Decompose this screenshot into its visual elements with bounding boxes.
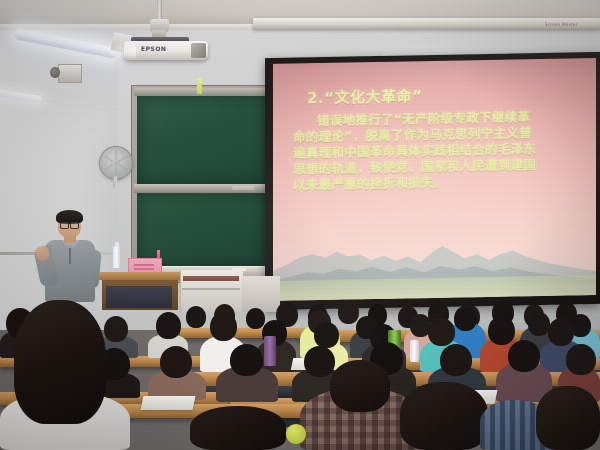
student-head: [314, 322, 339, 348]
student-head-foreground: [14, 300, 106, 424]
student-head: [338, 300, 359, 324]
student-head: [246, 308, 265, 329]
student-head: [566, 344, 596, 375]
student-head: [548, 318, 574, 346]
screen-brand-label: Screen Master: [545, 22, 578, 27]
notebook-paper: [141, 396, 196, 410]
water-bottle-purple: [264, 336, 276, 366]
student-head-foreground: [536, 386, 600, 450]
wall-speaker-icon: [58, 64, 82, 83]
student-head: [304, 346, 335, 377]
side-cabinet-seam: [182, 288, 240, 290]
student-head: [230, 344, 263, 376]
projector-light-beam: [104, 40, 136, 60]
student-head: [156, 312, 181, 339]
student-head: [210, 312, 237, 341]
student-head: [428, 318, 455, 346]
water-bottle: [410, 340, 419, 362]
podium-water-bottle: [113, 246, 120, 268]
chalkboard-top-rail: [134, 88, 274, 96]
student-head-foreground: [190, 406, 286, 450]
student-head: [440, 344, 472, 376]
projector-brand-label: EPSON: [141, 46, 166, 53]
side-cabinet-secondary: [242, 276, 280, 312]
student-head: [454, 306, 477, 331]
screen-vignette: [273, 58, 596, 301]
student-head: [508, 340, 540, 372]
lecture-hall-photo: EPSON Screen Master 2.“文化大革命” 错误地推行了“无产阶…: [0, 0, 600, 450]
chalkboard-writing: [232, 186, 254, 190]
podium-top: [99, 272, 182, 280]
chalkboard-panel-upper: [137, 96, 271, 184]
board-hanging-tag: [197, 78, 202, 94]
student-head: [160, 346, 192, 378]
wall-fan-icon: [99, 146, 133, 180]
lecturer-shirt-placket: [69, 248, 71, 264]
fan-mount: [113, 176, 117, 188]
student-head-foreground: [400, 382, 488, 450]
student-head: [488, 316, 515, 345]
projection-screen: 2.“文化大革命” 错误地推行了“无产阶级专政下继续革 命的理论”，脱离了作为马…: [273, 58, 596, 301]
lecturer-glasses-icon: [60, 222, 79, 227]
student-head: [186, 306, 206, 328]
student-head: [528, 312, 550, 336]
student-head-foreground: [330, 360, 390, 412]
projector-lens: [191, 43, 206, 58]
tennis-ball: [286, 424, 306, 444]
projection-screen-frame: 2.“文化大革命” 错误地推行了“无产阶级专政下继续革 命的理论”，脱离了作为马…: [265, 52, 600, 310]
podium-front-panel: [106, 286, 172, 308]
student-head: [104, 316, 128, 342]
student-desk: [180, 328, 310, 338]
side-cabinet-top: [183, 276, 239, 281]
